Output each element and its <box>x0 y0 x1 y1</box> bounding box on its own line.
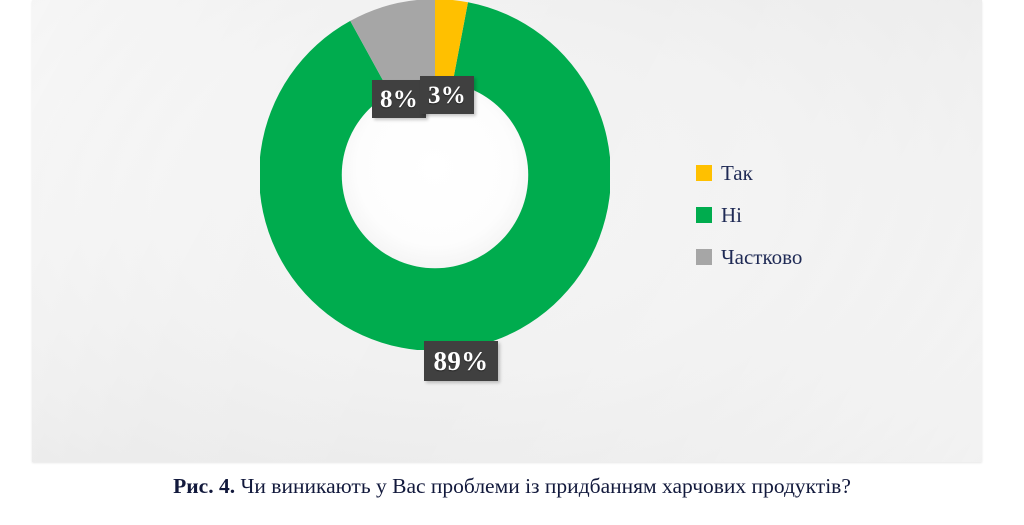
data-label-partly: 8% <box>372 80 426 118</box>
legend-item-partly[interactable]: Частково <box>696 236 926 278</box>
data-label-yes: 3% <box>420 76 474 114</box>
legend-label-no: Ні <box>721 203 742 228</box>
legend-swatch-partly-icon <box>696 249 712 265</box>
chart-panel: 8% 3% 89% Так Ні Частково <box>32 0 982 462</box>
figure-root: 8% 3% 89% Так Ні Частково Рис. 4. Чи вин… <box>0 0 1024 525</box>
legend-label-yes: Так <box>721 161 753 186</box>
legend-label-partly: Частково <box>721 245 802 270</box>
donut-chart <box>260 0 610 350</box>
legend-item-yes[interactable]: Так <box>696 152 926 194</box>
legend-swatch-yes-icon <box>696 165 712 181</box>
figure-caption-text: Чи виникають у Вас проблеми із придбання… <box>240 474 850 498</box>
legend-swatch-no-icon <box>696 207 712 223</box>
figure-caption-number: Рис. 4. <box>173 474 235 498</box>
chart-legend: Так Ні Частково <box>696 152 926 278</box>
donut-chart-svg <box>260 0 610 350</box>
data-label-no: 89% <box>424 341 498 381</box>
legend-item-no[interactable]: Ні <box>696 194 926 236</box>
figure-caption: Рис. 4. Чи виникають у Вас проблеми із п… <box>0 474 1024 499</box>
